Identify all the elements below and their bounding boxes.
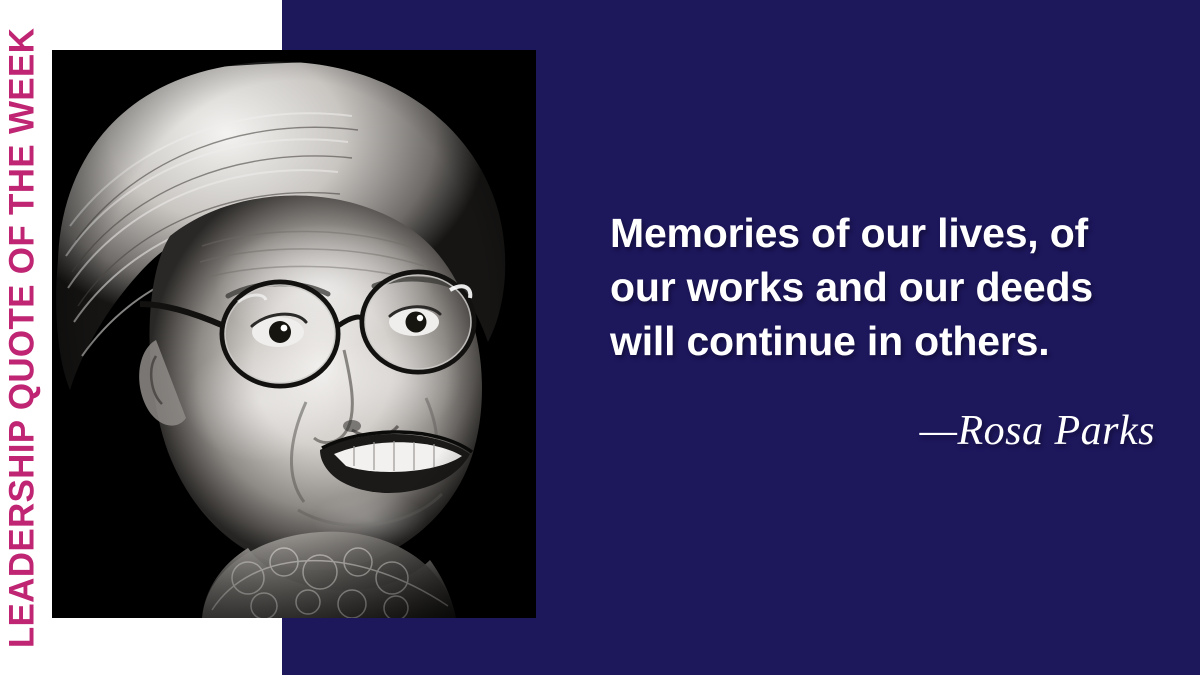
vertical-banner-label: LEADERSHIP QUOTE OF THE WEEK [5, 0, 40, 675]
quote-attribution: —Rosa Parks [610, 408, 1155, 454]
quote-block: Memories of our lives, of our works and … [610, 206, 1155, 455]
quote-slide: LEADERSHIP QUOTE OF THE WEEK Memories of… [0, 0, 1200, 675]
quote-text: Memories of our lives, of our works and … [610, 206, 1155, 368]
portrait-icon [52, 50, 536, 618]
vertical-banner: LEADERSHIP QUOTE OF THE WEEK [0, 0, 44, 675]
rosa-parks-portrait-image [52, 50, 536, 618]
